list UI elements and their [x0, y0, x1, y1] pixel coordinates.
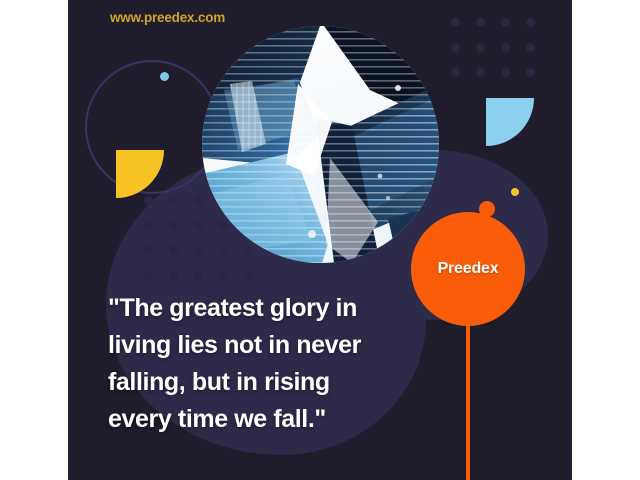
grid-dot: [476, 18, 485, 27]
grid-dot: [476, 43, 485, 52]
grid-dot: [144, 271, 153, 280]
quote-line: every time we fall.": [108, 401, 408, 438]
grid-dot: [526, 68, 535, 77]
grid-dot: [526, 18, 535, 27]
grid-dot: [169, 196, 178, 205]
grid-dot: [194, 271, 203, 280]
grid-dot: [501, 68, 510, 77]
grid-dot: [219, 221, 228, 230]
grid-dot: [169, 271, 178, 280]
balloon-string: [466, 325, 470, 480]
grid-dot: [169, 221, 178, 230]
grid-dot: [501, 43, 510, 52]
grid-dot: [244, 271, 253, 280]
quote-text: "The greatest glory in living lies not i…: [108, 290, 408, 438]
grid-dot: [451, 43, 460, 52]
grid-dot: [144, 196, 153, 205]
grid-dot: [219, 246, 228, 255]
dot-grid-right: [451, 18, 551, 93]
grid-dot: [451, 68, 460, 77]
poster-canvas: www.preedex.com: [0, 0, 640, 480]
quarter-arc-blue-icon: [486, 98, 534, 146]
dot-yellow-decoration: [511, 188, 519, 196]
grid-dot: [476, 68, 485, 77]
grid-dot: [169, 246, 178, 255]
grid-dot: [194, 246, 203, 255]
grid-dot: [144, 246, 153, 255]
grid-dot: [219, 271, 228, 280]
grid-dot: [501, 18, 510, 27]
brand-badge-label: Preedex: [438, 260, 499, 278]
skyscraper-photo: [202, 26, 439, 263]
quote-line: falling, but in rising: [108, 364, 408, 401]
poster-artboard: www.preedex.com: [68, 0, 572, 480]
grid-dot: [194, 196, 203, 205]
grid-dot: [194, 221, 203, 230]
dot-cyan-decoration: [160, 72, 169, 81]
quote-line: "The greatest glory in: [108, 290, 408, 327]
grid-dot: [451, 18, 460, 27]
quote-line: living lies not in never: [108, 327, 408, 364]
grid-dot: [144, 221, 153, 230]
grid-dot: [244, 246, 253, 255]
website-url[interactable]: www.preedex.com: [110, 10, 225, 25]
brand-badge-balloon[interactable]: Preedex: [411, 212, 525, 326]
grid-dot: [526, 43, 535, 52]
